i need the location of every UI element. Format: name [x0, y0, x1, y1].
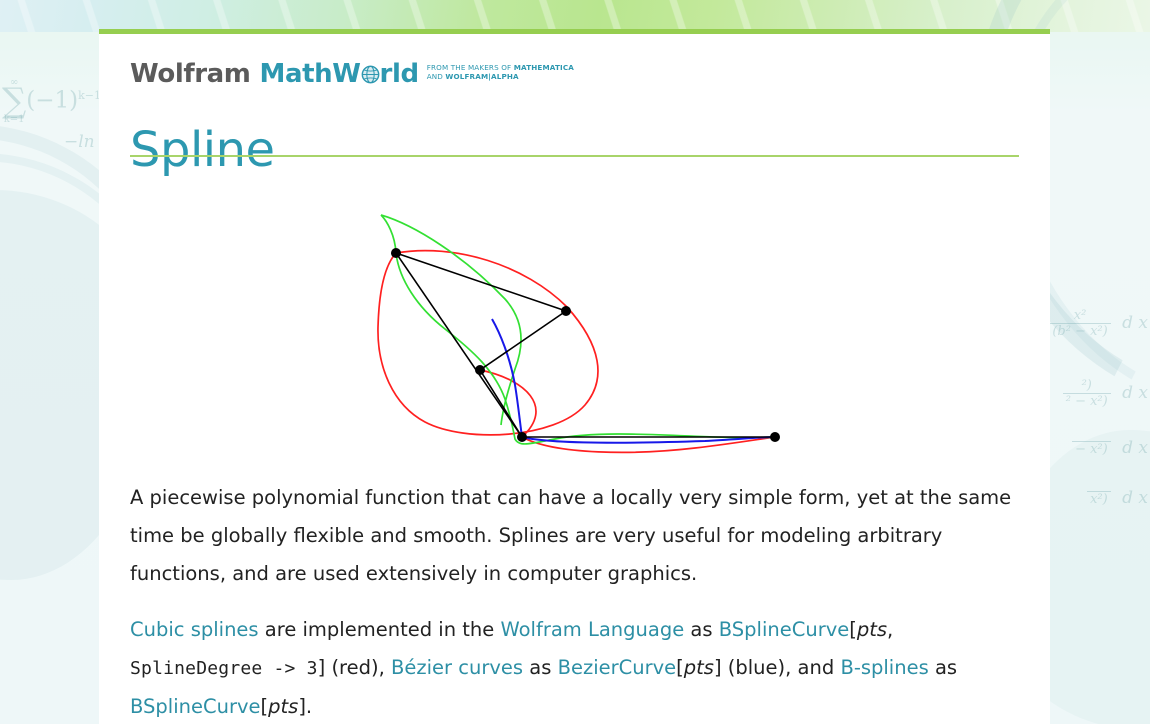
control-polygon-chord: [396, 253, 522, 437]
arg-pts-1: pts: [857, 618, 887, 641]
summation-exponent: k−1: [78, 89, 101, 102]
link-beziercurve[interactable]: BezierCurve: [558, 656, 677, 679]
integral-1-numerator: x²: [1049, 308, 1110, 323]
text-bracket-open-1: [: [849, 618, 857, 641]
paragraph-definition: A piecewise polynomial function that can…: [130, 479, 1019, 593]
integral-2-denominator: ² − x²): [1063, 393, 1111, 409]
arg-pts-2: pts: [684, 656, 714, 679]
page-title: Spline: [130, 124, 275, 177]
b-spline-lobe-green: [381, 215, 521, 425]
arg-pts-3: pts: [268, 695, 298, 718]
logo-mathworld-part-b: rld: [380, 61, 419, 87]
text-bracket-open-2: [: [676, 656, 684, 679]
text-as-3: as: [929, 656, 957, 679]
link-wolfram-language[interactable]: Wolfram Language: [500, 618, 684, 641]
control-point-dot: [561, 306, 571, 316]
bezier-curve-blue: [492, 319, 775, 443]
integral-1-differential: d x: [1122, 313, 1148, 333]
logo-mathworld-text: MathW rld: [260, 61, 419, 87]
text-blue-note: ] (blue), and: [714, 656, 840, 679]
text-as-2: as: [523, 656, 558, 679]
background-formula-ln: −ln: [64, 132, 95, 152]
control-point-dot: [517, 432, 527, 442]
link-bezier-curves[interactable]: Bézier curves: [391, 656, 523, 679]
background-formula-summation: ∞ ∑ k=1 (−1)k−1: [2, 78, 101, 125]
tagline-line1-plain: FROM THE MAKERS OF: [427, 63, 514, 72]
definition-text: A piecewise polynomial function that can…: [130, 486, 1011, 585]
integral-2-numerator: ²): [1063, 378, 1111, 393]
globe-icon: [361, 63, 380, 82]
cubic-spline-curve-red: [377, 250, 597, 434]
control-point-dot: [475, 365, 485, 375]
tagline-line2-plain: AND: [427, 72, 446, 81]
text-are-implemented: are implemented in the: [259, 618, 501, 641]
logo-mathworld-part-a: MathW: [260, 61, 361, 87]
logo-wolfram-text: Wolfram: [130, 61, 251, 87]
logo-tagline: FROM THE MAKERS OF MATHEMATICA AND WOLFR…: [427, 64, 574, 82]
figure-container: [130, 194, 1019, 469]
text-comma-1: ,: [887, 618, 893, 641]
background-formula-integral-2: ²) ² − x²) d x: [1063, 378, 1148, 409]
summation-body: (−1): [26, 88, 78, 114]
integral-2-differential: d x: [1122, 383, 1148, 403]
tagline-line-1: FROM THE MAKERS OF MATHEMATICA: [427, 63, 574, 72]
paragraph-implementation: Cubic splines are implemented in the Wol…: [130, 611, 1019, 724]
integral-4-denominator: x²): [1087, 491, 1111, 507]
summation-symbol: ∑: [2, 88, 26, 115]
header-ray-pattern: [0, 0, 1150, 32]
integral-3-denominator: − x²): [1072, 441, 1111, 457]
control-point-dot: [391, 248, 401, 258]
code-splinedegree: SplineDegree -> 3: [130, 658, 318, 679]
background-formula-integral-1: x² (b² − x²) d x: [1049, 308, 1148, 339]
summation-lower-limit: k=1: [2, 115, 26, 125]
site-masthead[interactable]: Wolfram MathW rld FROM THE MAKERS OF MAT…: [130, 61, 574, 87]
integral-1-denominator: (b² − x²): [1049, 323, 1110, 339]
title-divider: [130, 155, 1019, 157]
background-formula-integral-3: − x²) d x: [1072, 438, 1148, 458]
integral-4-differential: d x: [1122, 488, 1148, 508]
tagline-line-2: AND WOLFRAM|ALPHA: [427, 72, 519, 81]
link-cubic-splines[interactable]: Cubic splines: [130, 618, 259, 641]
control-point-dot: [770, 432, 780, 442]
article-body: A piecewise polynomial function that can…: [130, 479, 1019, 724]
cubic-spline-link-red: [480, 370, 536, 437]
tagline-line1-bold: MATHEMATICA: [514, 63, 574, 72]
spline-diagram: [365, 202, 785, 462]
tagline-line2-bold: WOLFRAM|ALPHA: [445, 72, 518, 81]
integral-3-differential: d x: [1122, 438, 1148, 458]
text-red-note: ] (red),: [318, 656, 391, 679]
link-bsplinecurve-1[interactable]: BSplineCurve: [719, 618, 850, 641]
control-polygon: [396, 253, 775, 437]
text-end-period: ].: [298, 695, 312, 718]
background-formula-integral-4: x²) d x: [1087, 488, 1148, 508]
text-as-1: as: [684, 618, 719, 641]
link-b-splines[interactable]: B-splines: [840, 656, 928, 679]
text-bracket-open-3: [: [261, 695, 269, 718]
link-bsplinecurve-2[interactable]: BSplineCurve: [130, 695, 261, 718]
content-card: Wolfram MathW rld FROM THE MAKERS OF MAT…: [99, 29, 1050, 724]
b-spline-curve-green: [381, 215, 775, 444]
